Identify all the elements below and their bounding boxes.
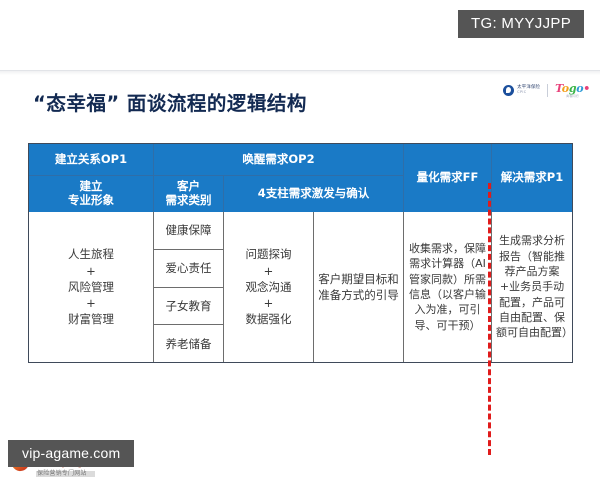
- matrix-header-left-group: 建立关系OP1 唤醒需求OP2 建立 专业形象 客户 需求类别 4支柱需求激发与…: [29, 144, 404, 212]
- demand-category-item: 爱心责任: [154, 250, 223, 288]
- wanyiwang-slogan: 保险营销专门网站: [36, 471, 95, 477]
- togo-logo-sub: 青春同行: [566, 95, 579, 98]
- cpic-logo-en: CPIC: [517, 91, 540, 94]
- demand-category-item: 健康保障: [154, 212, 223, 250]
- cpic-mark-icon: [503, 85, 514, 96]
- brand-logo-row: 太平洋保险 CPIC Togo• 青春同行: [503, 81, 590, 99]
- tg-watermark-badge: TG: MYYJJPP: [458, 10, 584, 38]
- agame-watermark-badge: vip-agame.com: [8, 440, 134, 467]
- page-title: “态幸福” 面谈流程的逻辑结构: [33, 87, 307, 116]
- demand-category-item: 养老储备: [154, 325, 223, 362]
- phase-header-solve-p1: 解决需求P1: [492, 144, 572, 212]
- cell-pillar-method: 问题探询 + 观念沟通 + 数据强化: [224, 212, 314, 362]
- column-header-four-pillars: 4支柱需求激发与确认: [224, 176, 404, 212]
- matrix-phase-row: 建立关系OP1 唤醒需求OP2: [29, 144, 404, 176]
- brand-separator: [547, 84, 548, 97]
- cpic-logo-text: 太平洋保险 CPIC: [517, 86, 540, 94]
- phase-header-op2: 唤醒需求OP2: [154, 144, 404, 176]
- slide-top-shade: [0, 71, 600, 75]
- demand-category-item: 子女教育: [154, 288, 223, 326]
- togo-logo-word: Togo•: [555, 83, 590, 94]
- process-matrix-table: 建立关系OP1 唤醒需求OP2 建立 专业形象 客户 需求类别 4支柱需求激发与…: [28, 143, 573, 363]
- cell-quantify-demand: 收集需求，保障需求计算器（AI管家同款）所需信息（以客户输入为准，可引导、可干预…: [404, 212, 492, 362]
- top-watermark-band: TG: MYYJJPP: [0, 0, 600, 68]
- togo-logo: Togo• 青春同行: [555, 83, 590, 98]
- matrix-column-row: 建立 专业形象 客户 需求类别 4支柱需求激发与确认: [29, 176, 404, 212]
- column-header-establish-image: 建立 专业形象: [29, 176, 154, 212]
- cell-demand-categories: 健康保障 爱心责任 子女教育 养老储备: [154, 212, 224, 362]
- column-header-demand-category: 客户 需求类别: [154, 176, 224, 212]
- slide-canvas: 太平洋保险 CPIC Togo• 青春同行 “态幸福” 面谈流程的逻辑结构 建立…: [0, 70, 600, 480]
- phase-header-quantify-ff: 量化需求FF: [404, 144, 492, 212]
- phase-header-op1: 建立关系OP1: [29, 144, 154, 176]
- cell-pillar-goal: 客户期望目标和准备方式的引导: [314, 212, 404, 362]
- cpic-logo: 太平洋保险 CPIC: [503, 85, 540, 96]
- red-dashed-divider: [488, 183, 491, 455]
- cell-establish-image: 人生旅程 + 风险管理 + 财富管理: [29, 212, 154, 362]
- cell-solve-demand: 生成需求分析报告（智能推荐产品方案+业务员手动配置，产品可自由配置、保额可自由配…: [492, 212, 572, 362]
